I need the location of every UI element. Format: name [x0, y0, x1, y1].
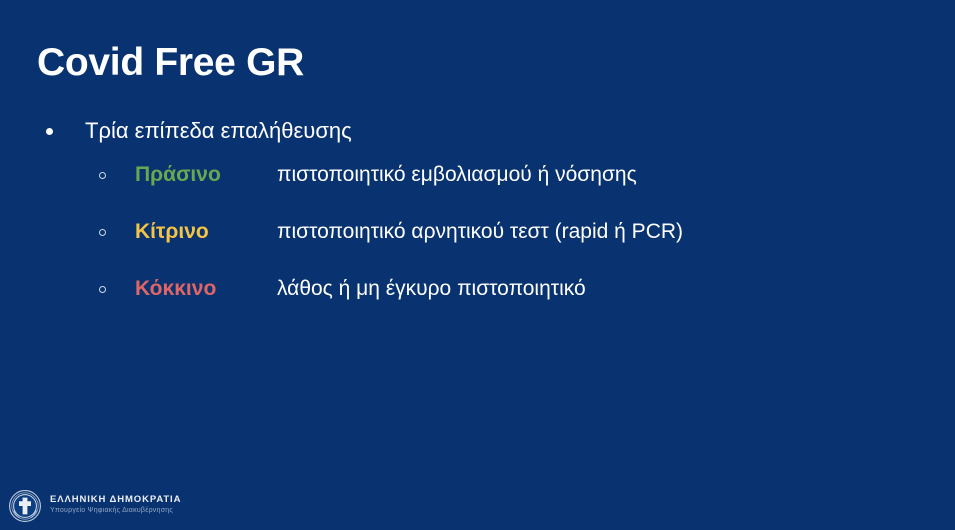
footer-text-block: ΕΛΛΗΝΙΚΗ ΔΗΜΟΚΡΑΤΙΑ Υπουργείο Ψηφιακής Δ…: [50, 494, 181, 518]
list-item-yellow: Κίτρινο πιστοποιητικό αρνητικού τεστ (ra…: [0, 217, 955, 274]
bullet-circle-icon: [99, 172, 106, 179]
list-item-level1: Τρία επίπεδα επαλήθευσης: [0, 118, 955, 160]
list-item-red: Κόκκινο λάθος ή μη έγκυρο πιστοποιητικό: [0, 274, 955, 331]
footer-branding: ΕΛΛΗΝΙΚΗ ΔΗΜΟΚΡΑΤΙΑ Υπουργείο Ψηφιακής Δ…: [8, 489, 181, 523]
bullet-circle-icon: [99, 229, 106, 236]
bullet-disc-icon: [46, 128, 53, 135]
presentation-slide: Covid Free GR Τρία επίπεδα επαλήθευσης Π…: [0, 0, 955, 530]
footer-ministry-label: Υπουργείο Ψηφιακής Διακυβέρνησης: [50, 506, 181, 516]
status-badge-green: Πράσινο: [135, 160, 221, 190]
list-item-red-description: λάθος ή μη έγκυρο πιστοποιητικό: [277, 274, 586, 304]
content-list: Τρία επίπεδα επαλήθευσης Πράσινο πιστοπο…: [0, 118, 955, 331]
list-item-level1-label: Τρία επίπεδα επαλήθευσης: [85, 118, 352, 144]
footer-organization-label: ΕΛΛΗΝΙΚΗ ΔΗΜΟΚΡΑΤΙΑ: [50, 494, 181, 506]
status-badge-red: Κόκκινο: [135, 274, 216, 304]
hellenic-republic-emblem-icon: [8, 489, 42, 523]
page-title: Covid Free GR: [37, 43, 304, 84]
status-badge-yellow: Κίτρινο: [135, 217, 209, 247]
list-item-green-description: πιστοποιητικό εμβολιασμού ή νόσησης: [277, 160, 637, 190]
bullet-circle-icon: [99, 286, 106, 293]
list-item-green: Πράσινο πιστοποιητικό εμβολιασμού ή νόση…: [0, 160, 955, 217]
list-item-yellow-description: πιστοποιητικό αρνητικού τεστ (rapid ή PC…: [277, 217, 683, 247]
